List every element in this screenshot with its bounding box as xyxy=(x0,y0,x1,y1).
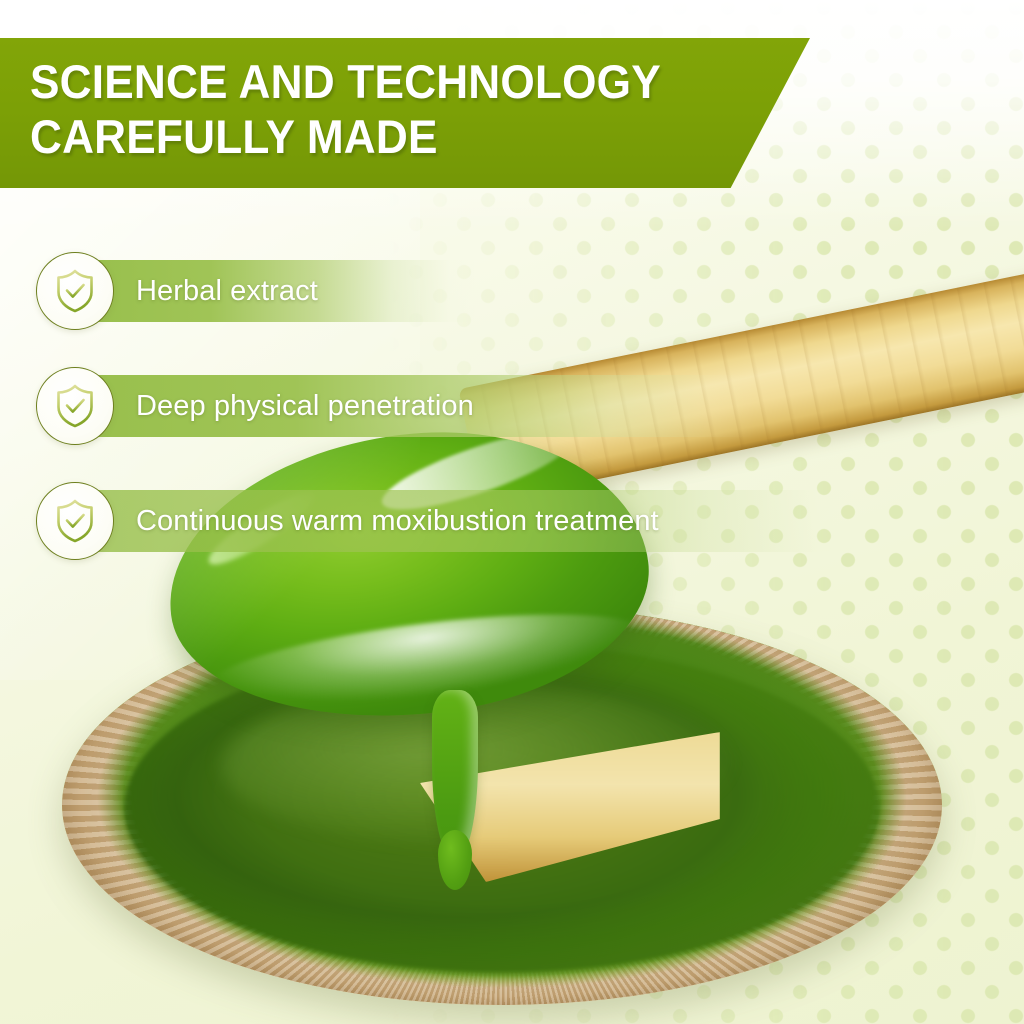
feature-label: Continuous warm moxibustion treatment xyxy=(136,504,659,538)
page-title: SCIENCE AND TECHNOLOGY CAREFULLY MADE xyxy=(30,54,726,164)
feature-label: Herbal extract xyxy=(136,274,318,308)
feature-row-herbal-extract: Herbal extract xyxy=(36,252,318,330)
shield-check-icon xyxy=(36,482,114,560)
product-feature-banner: SCIENCE AND TECHNOLOGY CAREFULLY MADE He… xyxy=(0,0,1024,1024)
feature-row-deep-penetration: Deep physical penetration xyxy=(36,367,474,445)
shield-check-icon xyxy=(36,252,114,330)
feature-label: Deep physical penetration xyxy=(136,389,474,423)
shield-check-icon xyxy=(36,367,114,445)
feature-row-moxibustion-treatment: Continuous warm moxibustion treatment xyxy=(36,482,659,560)
